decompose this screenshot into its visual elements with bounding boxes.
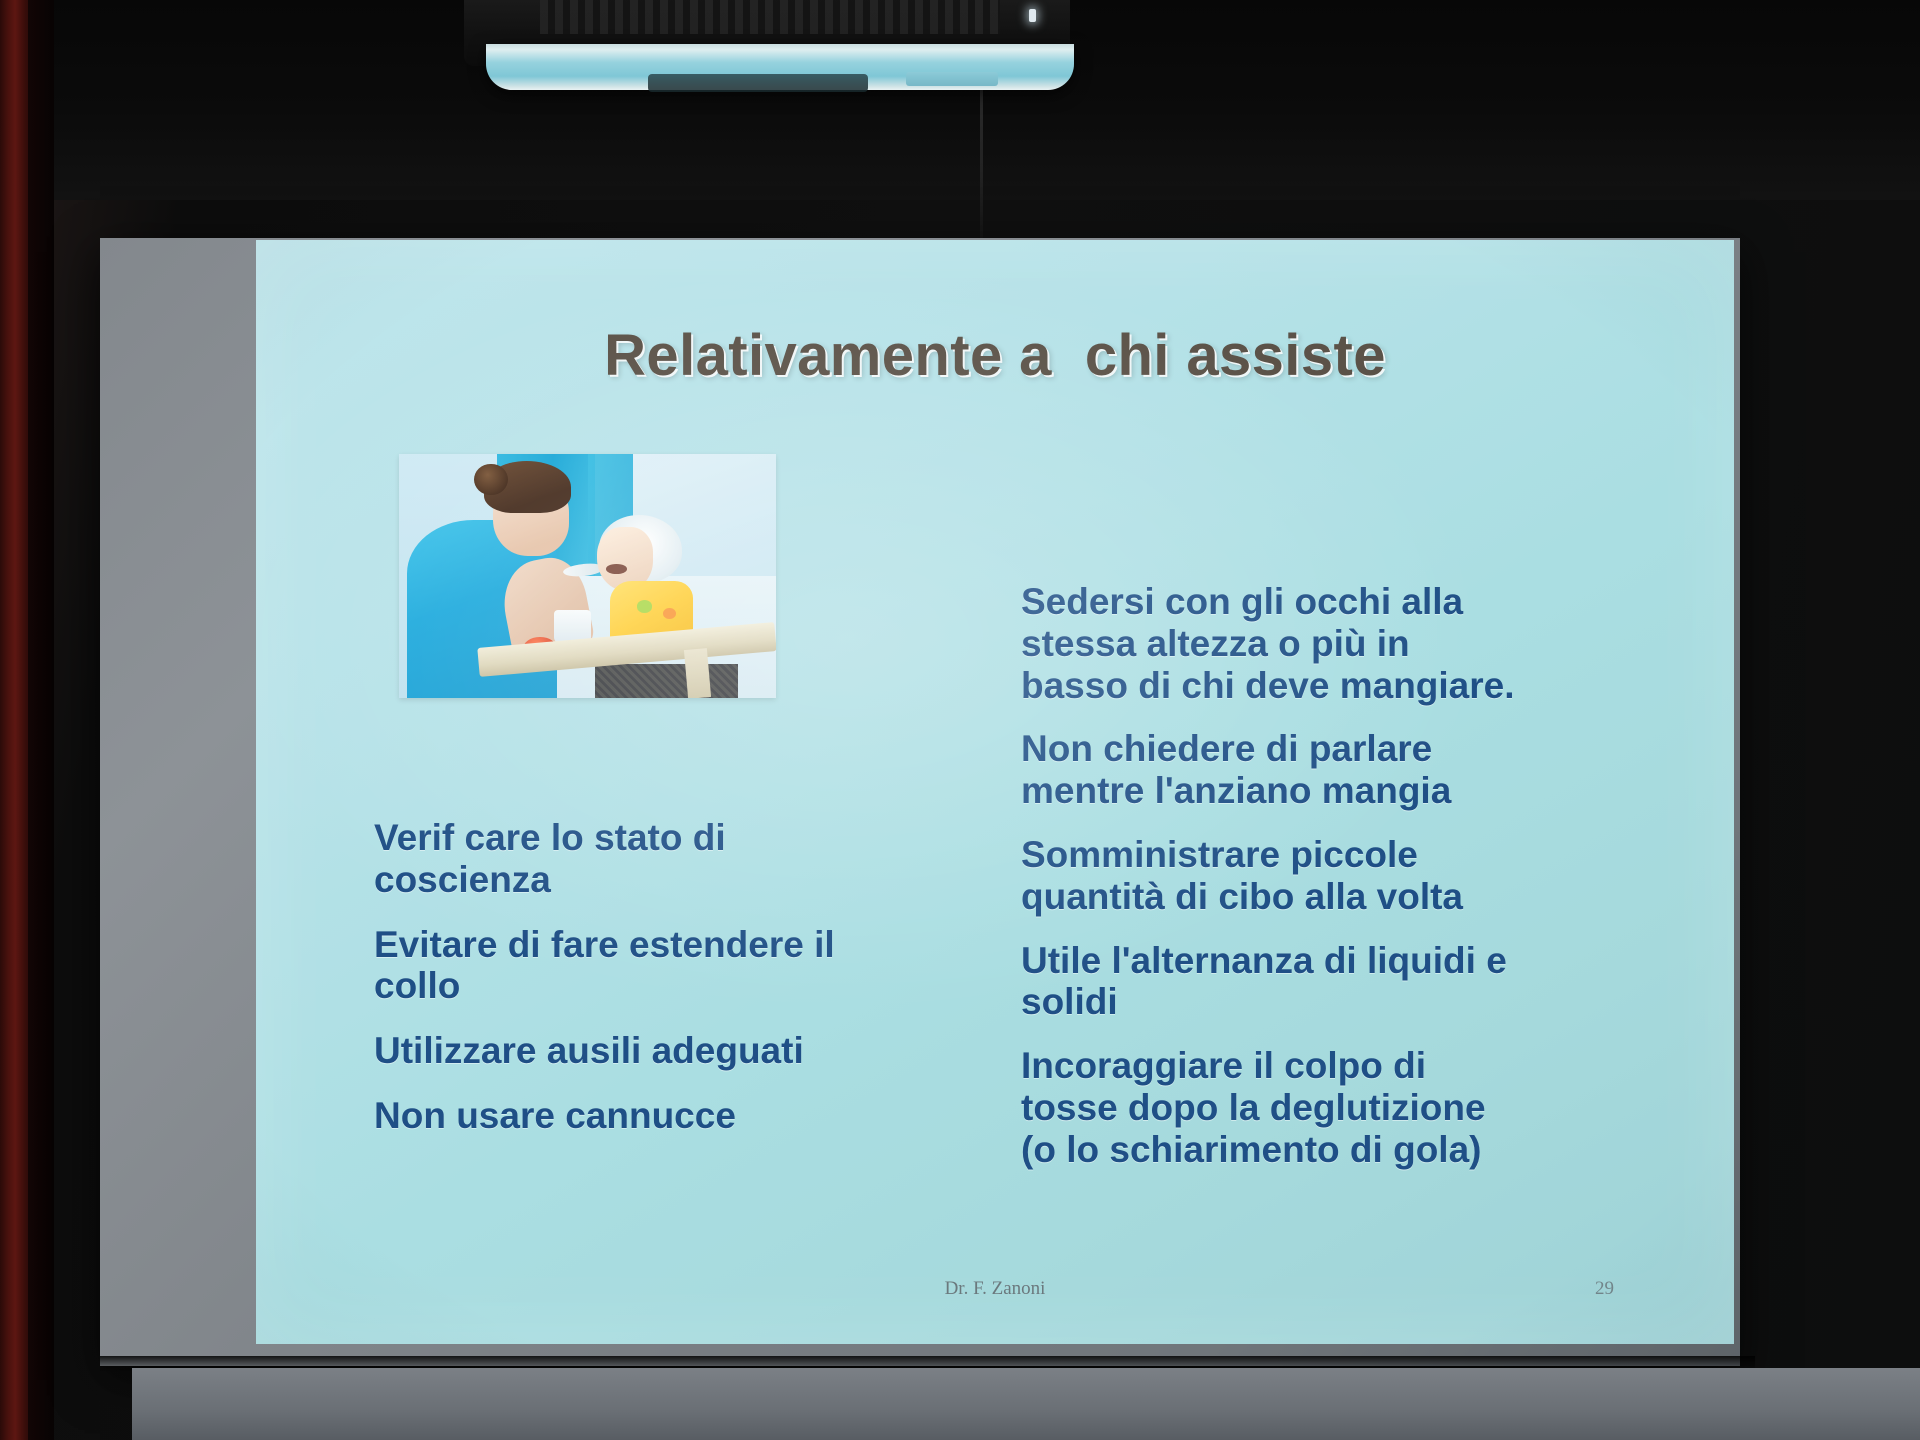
- bullet-item: Non chiedere di parlare mentre l'anziano…: [1021, 728, 1631, 812]
- photo-of-projected-slide: Relativamente a chi assiste: [0, 0, 1920, 1440]
- projector-vents: [540, 0, 1000, 34]
- bullet-item: Sedersi con gli occhi alla stessa altezz…: [1021, 581, 1631, 706]
- photo-elderly-mouth: [606, 564, 627, 574]
- bullet-item: Verif care lo stato di coscienza: [374, 817, 974, 901]
- bullet-item: Utile l'alternanza di liquidi e solidi: [1021, 940, 1631, 1024]
- presentation-slide: Relativamente a chi assiste: [256, 240, 1734, 1344]
- bullet-item: Evitare di fare estendere il collo: [374, 924, 974, 1008]
- projector-power-led-icon: [1029, 9, 1036, 22]
- red-curtain-shadow: [28, 0, 54, 1440]
- slide-title: Relativamente a chi assiste: [256, 322, 1734, 389]
- projector-lens-icon: [648, 74, 868, 92]
- slide-photo-nurse-feeding-elderly: [399, 454, 776, 698]
- left-bullet-column: Verif care lo stato di coscienza Evitare…: [374, 817, 974, 1160]
- photo-tray-leg: [683, 648, 710, 698]
- bullet-item: Incoraggiare il colpo di tosse dopo la d…: [1021, 1045, 1631, 1170]
- right-bullet-column: Sedersi con gli occhi alla stessa altezz…: [1021, 581, 1631, 1193]
- slide-author-footer: Dr. F. Zanoni: [256, 1278, 1734, 1300]
- bullet-item: Utilizzare ausili adeguati: [374, 1030, 974, 1072]
- bullet-item: Somministrare piccole quantità di cibo a…: [1021, 834, 1631, 918]
- wall-ledge: [132, 1368, 1920, 1440]
- photo-top-pattern-dot: [663, 608, 676, 619]
- photo-top-pattern-dot: [637, 600, 652, 612]
- projector-focus-knob: [906, 72, 998, 86]
- photo-dark-floor: [595, 664, 738, 698]
- bullet-item: Non usare cannucce: [374, 1095, 974, 1137]
- slide-page-number: 29: [1595, 1278, 1614, 1300]
